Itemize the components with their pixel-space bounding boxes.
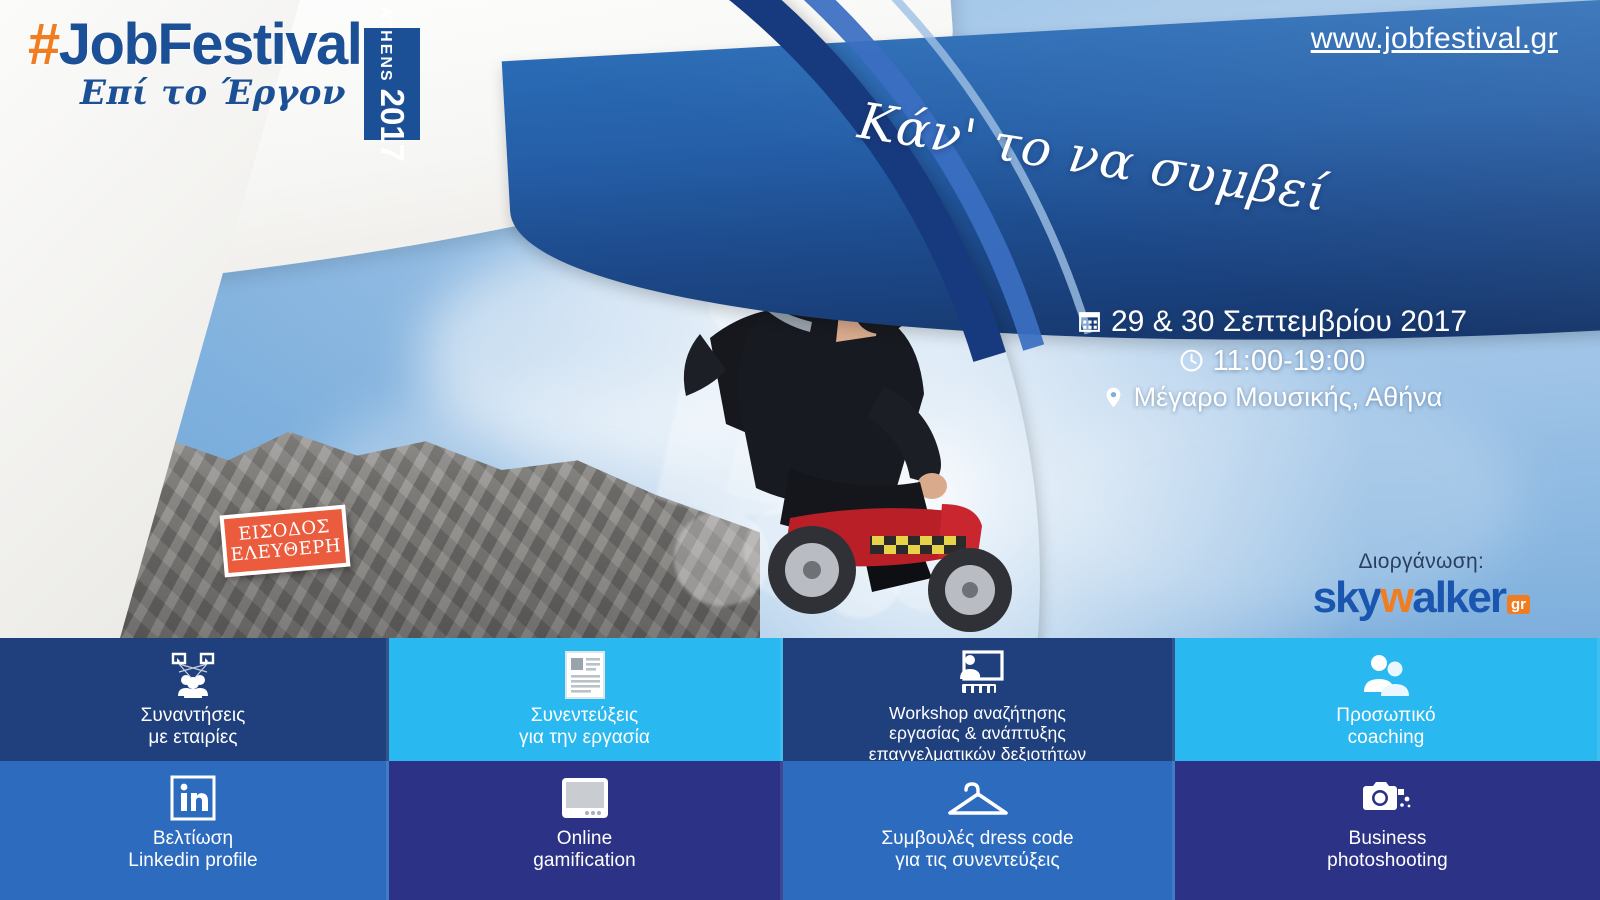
- tile-label-line-2: coaching: [1348, 727, 1425, 749]
- tile-label-line-1: Business: [1349, 828, 1427, 850]
- tile-workshop[interactable]: Workshop αναζήτησης εργασίας & ανάπτυξης…: [783, 638, 1175, 761]
- skywalker-logo-part1: sky: [1313, 576, 1380, 620]
- tile-personal-coaching[interactable]: Προσωπικό coaching: [1175, 638, 1600, 761]
- event-date-text: 29 & 30 Σεπτεμβρίου 2017: [1111, 302, 1467, 342]
- badge-city-label: ATHENS: [376, 6, 394, 83]
- tile-online-gamification[interactable]: Online gamification: [389, 761, 783, 900]
- free-entry-badge: ΕΙΣΟΔΟΣ ΕΛΕΥΘΕΡΗ: [220, 505, 351, 578]
- tile-label-line-2: photoshooting: [1327, 850, 1448, 872]
- hero-banner: #JobFestival Επί το Έργον ATHENS 2017 ww…: [0, 0, 1600, 638]
- tile-label-line-1: Συνεντεύξεις: [531, 705, 639, 727]
- event-info-block: 29 & 30 Σεπτεμβρίου 2017 11:00-19:00: [1062, 302, 1482, 415]
- logo-main-text: JobFestival: [59, 12, 362, 77]
- tile-label-line-1: Συμβουλές dress code: [881, 828, 1073, 850]
- tile-job-interviews[interactable]: Συνεντεύξεις για την εργασία: [389, 638, 783, 761]
- network-meeting-icon: [165, 650, 221, 700]
- tile-business-photoshooting[interactable]: Business photoshooting: [1175, 761, 1600, 900]
- cv-document-icon: [563, 650, 607, 700]
- tile-label-line-2: για την εργασία: [519, 727, 650, 749]
- event-time-text: 11:00-19:00: [1213, 342, 1366, 380]
- tile-label-line-1: Προσωπικό: [1336, 705, 1435, 727]
- event-location-text: Μέγαρο Μουσικής, Αθήνα: [1134, 380, 1443, 416]
- tile-label-line-2: Linkedin profile: [128, 850, 257, 872]
- website-url-link[interactable]: www.jobfestival.gr: [1311, 22, 1558, 56]
- event-time-row: 11:00-19:00: [1062, 342, 1482, 380]
- tile-linkedin-profile[interactable]: Βελτίωση Linkedin profile: [0, 761, 389, 900]
- linkedin-icon: [170, 773, 216, 823]
- clothes-hanger-icon: [945, 773, 1011, 823]
- event-date-row: 29 & 30 Σεπτεμβρίου 2017: [1062, 302, 1482, 342]
- skywalker-logo[interactable]: skywalkergr: [1313, 576, 1530, 620]
- logo-tagline: Επί το Έργον: [28, 76, 346, 110]
- tile-label-line-1: Workshop αναζήτησης: [889, 703, 1066, 723]
- athens-2017-badge: ATHENS 2017: [364, 28, 420, 140]
- tile-company-meetings[interactable]: Συναντήσεις με εταιρίες: [0, 638, 389, 761]
- jobfestival-logo[interactable]: #JobFestival Επί το Έργον ATHENS 2017: [28, 16, 420, 142]
- poster-root: #JobFestival Επί το Έργον ATHENS 2017 ww…: [0, 0, 1600, 900]
- skywalker-logo-tld: gr: [1507, 595, 1530, 614]
- location-pin-icon: [1102, 385, 1125, 410]
- skywalker-logo-part2: w: [1380, 576, 1412, 620]
- badge-year-label: 2017: [373, 89, 411, 162]
- camera-icon: [1361, 773, 1415, 823]
- people-coaching-icon: [1360, 650, 1412, 700]
- tile-label-line-1: Συναντήσεις: [141, 705, 246, 727]
- tile-dress-code[interactable]: Συμβουλές dress code για τις συνεντεύξει…: [783, 761, 1175, 900]
- event-location-row: Μέγαρο Μουσικής, Αθήνα: [1062, 380, 1482, 416]
- clock-icon: [1179, 348, 1204, 373]
- organiser-label: Διοργάνωση:: [1313, 550, 1530, 574]
- tile-label-line-2: gamification: [533, 850, 636, 872]
- tile-label-line-2: εργασίας & ανάπτυξης: [889, 723, 1066, 743]
- feature-tiles-grid: Συναντήσεις με εταιρίες Συνεντεύξεις γ: [0, 638, 1600, 900]
- tile-label-line-2: για τις συνεντεύξεις: [895, 850, 1059, 872]
- tile-label-line-1: Βελτίωση: [153, 828, 233, 850]
- organiser-block: Διοργάνωση: skywalkergr: [1313, 550, 1530, 620]
- tile-label-line-1: Online: [557, 828, 613, 850]
- skywalker-logo-part3: alker: [1412, 576, 1505, 620]
- calendar-icon: [1077, 309, 1102, 334]
- hashtag-glyph: #: [28, 12, 59, 77]
- tile-label-line-2: με εταιρίες: [148, 727, 237, 749]
- presentation-workshop-icon: [950, 650, 1006, 698]
- monitor-icon: [560, 773, 610, 823]
- logo-wordmark: #JobFestival: [28, 16, 420, 74]
